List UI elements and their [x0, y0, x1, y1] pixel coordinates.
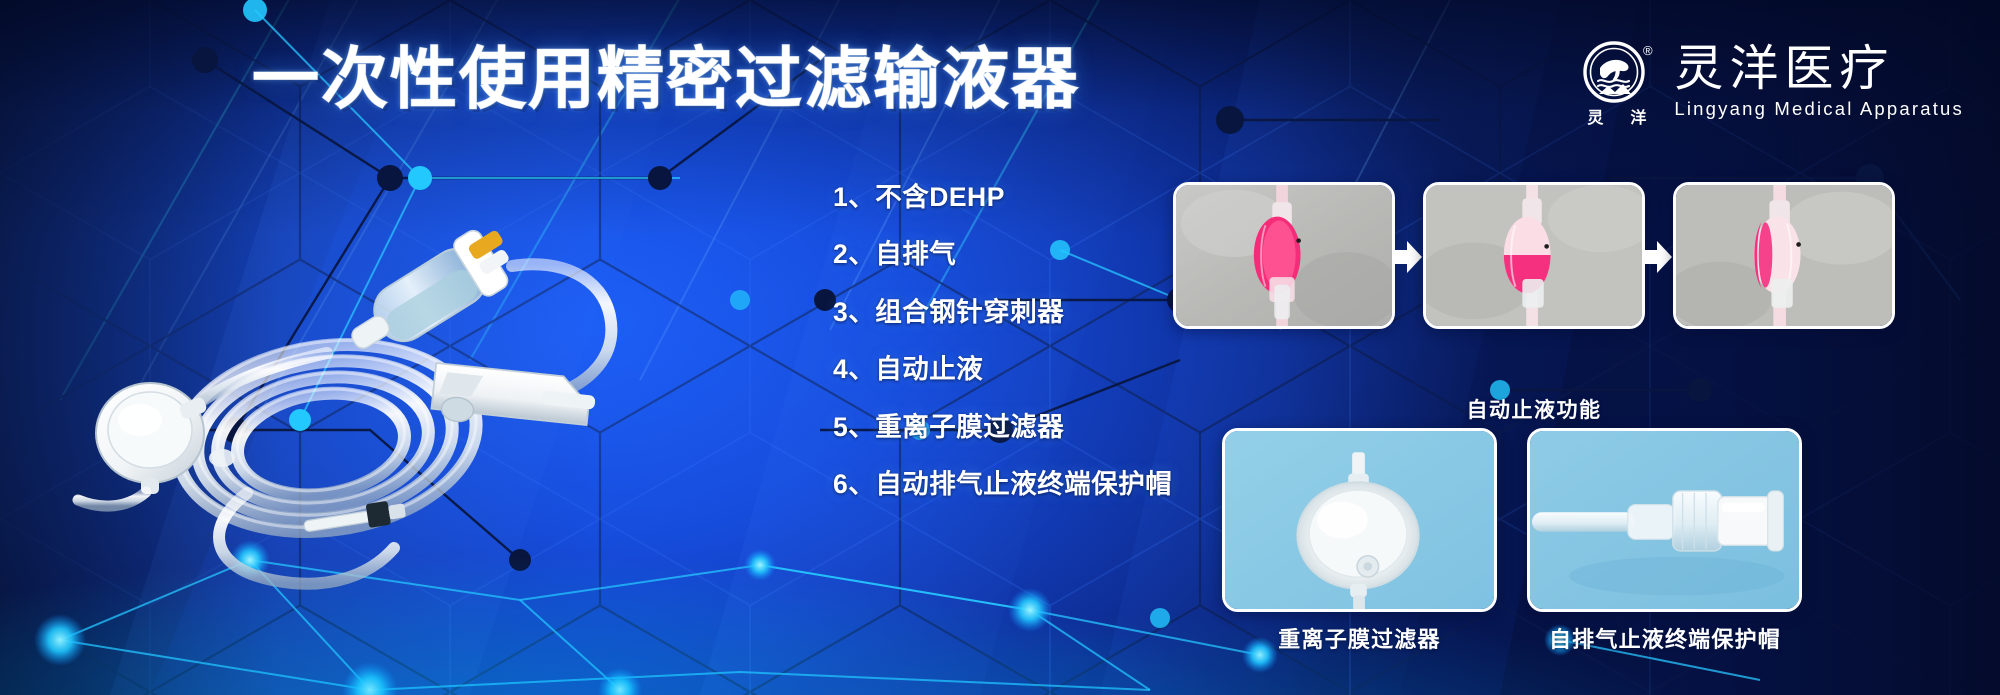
banner-title-wrap: 一次性使用精密过滤输液器: [252, 46, 1080, 113]
brand-logo: ® 灵 洋 灵洋医疗 Lingyang Medical Apparatus: [1574, 38, 1964, 126]
arrow-right-icon: [1640, 239, 1674, 275]
caption-auto-stop-function: 自动止液功能: [1173, 394, 1895, 424]
sequence-photo-3: [1673, 182, 1895, 329]
company-name-en: Lingyang Medical Apparatus: [1674, 98, 1964, 120]
feature-item-5: 5、重离子膜过滤器: [833, 398, 1193, 456]
product-banner: 一次性使用精密过滤输液器 ® 灵 洋 灵洋医疗: [0, 0, 2000, 695]
product-hero-image: [42, 148, 652, 548]
brand-logo-text: 灵洋医疗 Lingyang Medical Apparatus: [1674, 44, 1964, 120]
lingyang-wave-emblem-icon: ® 灵 洋: [1574, 38, 1660, 126]
company-name-cn: 灵洋医疗: [1674, 44, 1964, 96]
feature-item-1: 1、不含DEHP: [833, 168, 1193, 226]
caption-filter: 重离子膜过滤器: [1222, 622, 1497, 654]
sequence-photo-1: [1173, 182, 1395, 329]
caption-cap: 自排气止液终端保护帽: [1480, 622, 1850, 654]
page-title: 一次性使用精密过滤输液器: [252, 46, 1080, 113]
feature-item-6: 6、自动排气止液终端保护帽: [833, 456, 1193, 514]
arrow-right-icon: [1390, 239, 1424, 275]
feature-item-3: 3、组合钢针穿刺器: [833, 283, 1193, 341]
svg-text:®: ®: [1643, 43, 1653, 58]
panel-cap-photo: [1527, 428, 1802, 612]
emblem-char-right: 洋: [1630, 104, 1647, 128]
drip-chamber-part: [337, 219, 525, 370]
feature-item-2: 2、自排气: [833, 226, 1193, 284]
emblem-char-left: 灵: [1587, 104, 1604, 128]
sequence-photo-2: [1423, 182, 1645, 329]
feature-item-4: 4、自动止液: [833, 341, 1193, 399]
feature-list: 1、不含DEHP 2、自排气 3、组合钢针穿刺器 4、自动止液 5、重离子膜过滤…: [833, 168, 1193, 513]
panel-filter-photo: [1222, 428, 1497, 612]
